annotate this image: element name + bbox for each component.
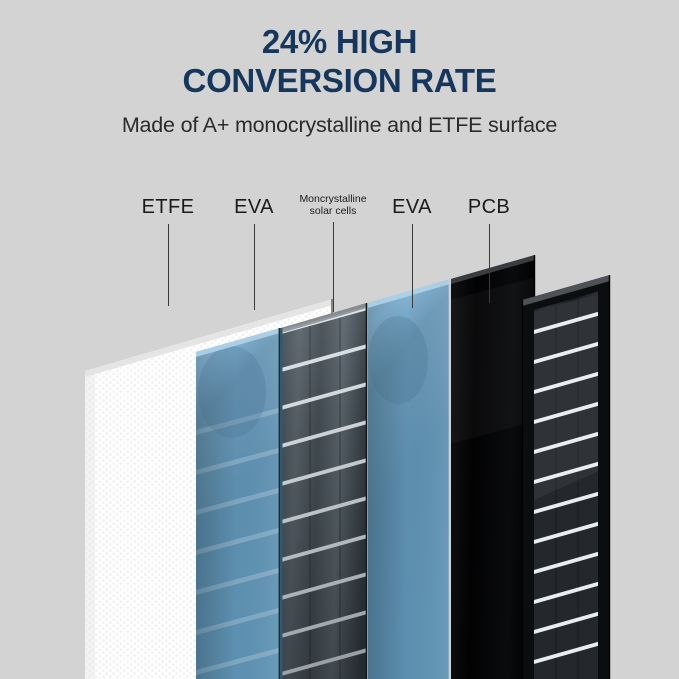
callout-label-pcb: PCB (439, 196, 539, 219)
leader-line-eva-front (254, 224, 255, 310)
leader-line-eva-back (412, 224, 413, 308)
leader-line-pcb (489, 224, 490, 303)
layer-eva-back (368, 255, 456, 679)
layer-solar-cells (281, 280, 371, 679)
leader-line-etfe (168, 224, 169, 306)
poster-canvas: 24% HIGH CONVERSION RATE Made of A+ mono… (0, 0, 679, 679)
layer-eva-front (196, 300, 286, 679)
leader-line-solar-cells (333, 222, 334, 312)
callout-label-etfe: ETFE (118, 196, 218, 219)
exploded-layer-diagram (0, 0, 679, 679)
layer-assembled-panel (522, 250, 612, 679)
